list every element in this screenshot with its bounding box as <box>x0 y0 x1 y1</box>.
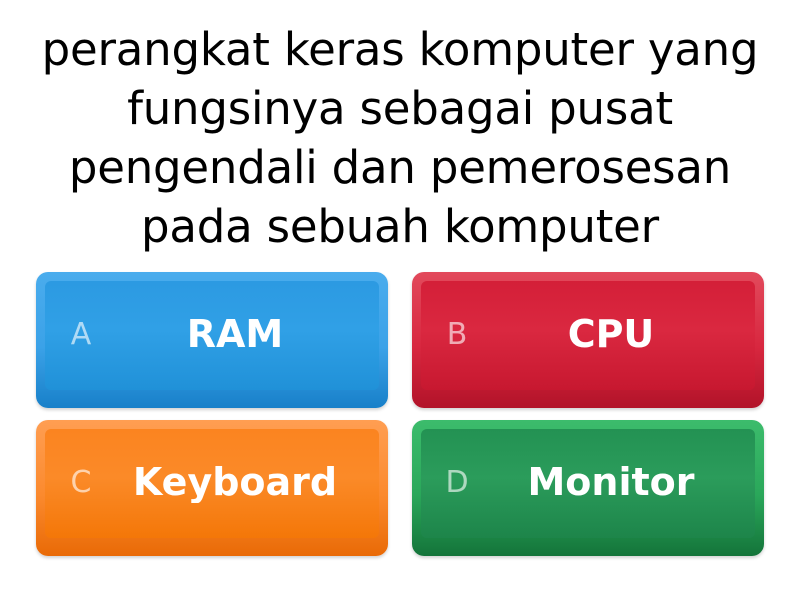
answer-option-b[interactable]: B CPU <box>412 272 764 408</box>
answer-option-c-label: Keyboard <box>108 463 370 503</box>
answer-option-d-content: D Monitor <box>412 420 764 556</box>
answer-option-a-label: RAM <box>108 315 370 355</box>
answer-option-c-content: C Keyboard <box>36 420 388 556</box>
answer-option-c[interactable]: C Keyboard <box>36 420 388 556</box>
answer-option-b-label: CPU <box>484 315 746 355</box>
answer-option-a-content: A RAM <box>36 272 388 408</box>
answer-option-a[interactable]: A RAM <box>36 272 388 408</box>
answer-option-a-letter: A <box>54 320 108 350</box>
answer-option-c-letter: C <box>54 468 108 498</box>
quiz-card: perangkat keras komputer yang fungsinya … <box>0 0 800 600</box>
question-text: perangkat keras komputer yang fungsinya … <box>30 20 770 256</box>
answer-option-b-content: B CPU <box>412 272 764 408</box>
answer-option-d[interactable]: D Monitor <box>412 420 764 556</box>
answer-option-b-letter: B <box>430 320 484 350</box>
answer-option-d-label: Monitor <box>484 463 746 503</box>
answer-option-d-letter: D <box>430 468 484 498</box>
answer-options-grid: A RAM B CPU C Keyboard D Monitor <box>0 272 800 600</box>
question-area: perangkat keras komputer yang fungsinya … <box>0 0 800 272</box>
